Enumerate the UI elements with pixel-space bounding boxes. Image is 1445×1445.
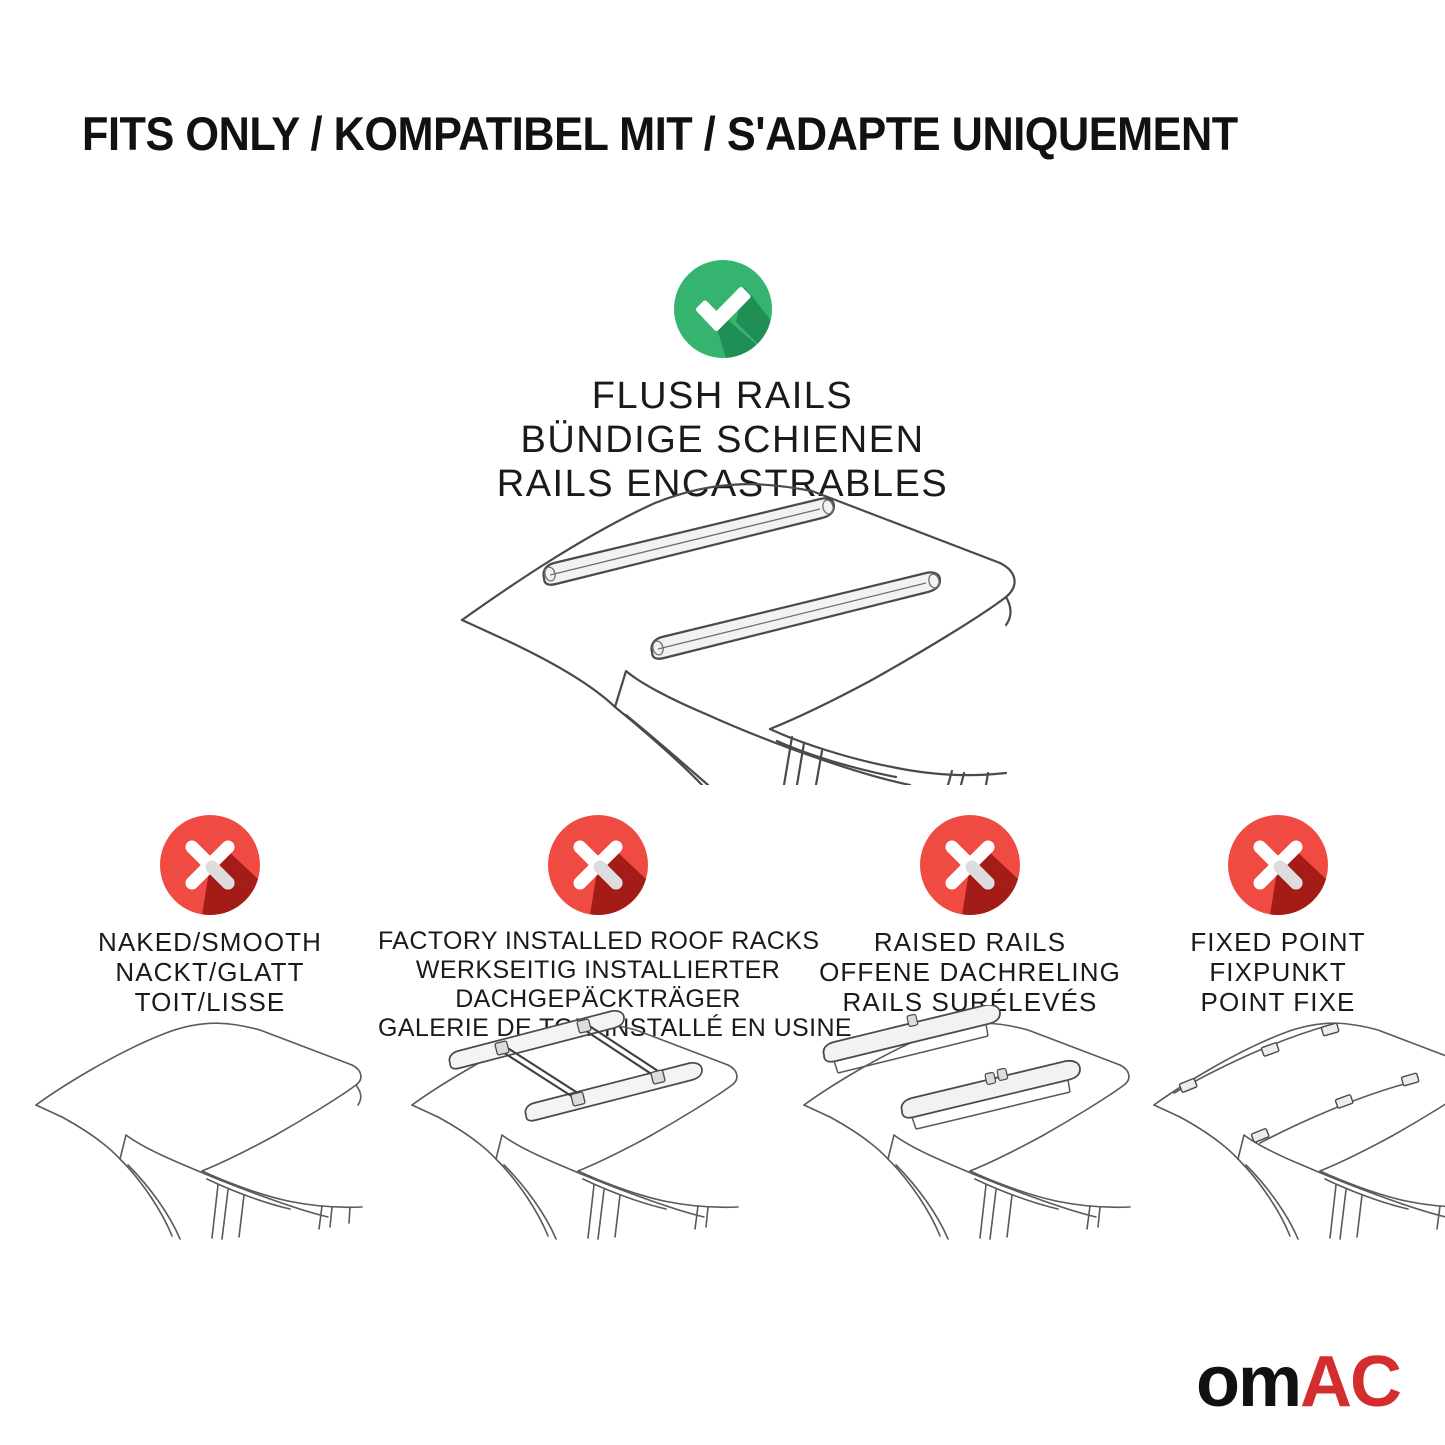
- page-title: FITS ONLY / KOMPATIBEL MIT / S'ADAPTE UN…: [82, 106, 1269, 162]
- car-roof-naked-smooth-illustration: [22, 1005, 382, 1250]
- green-check-circle-icon: [674, 260, 772, 358]
- label-line-en: RAISED RAILS: [805, 927, 1135, 957]
- red-x-circle-icon: [920, 815, 1020, 915]
- logo-text-ac: AC: [1300, 1344, 1400, 1420]
- car-roof-fixed-point-illustration: [1140, 1005, 1445, 1250]
- label-line-en: FIXED POINT: [1128, 927, 1428, 957]
- car-roof-flush-rails-illustration: [440, 475, 1020, 785]
- label-line-de: FIXPUNKT: [1128, 957, 1428, 987]
- label-line-de-1: WERKSEITIG INSTALLIERTER: [378, 956, 818, 985]
- incompatible-item-raised-rails: RAISED RAILS OFFENE DACHRELING RAILS SUR…: [805, 815, 1135, 1017]
- compatible-label-de: BÜNDIGE SCHIENEN: [0, 418, 1445, 462]
- label-line-de: OFFENE DACHRELING: [805, 957, 1135, 987]
- incompatible-labels-fixed-point: FIXED POINT FIXPUNKT POINT FIXE: [1128, 927, 1428, 1017]
- label-line-en: FACTORY INSTALLED ROOF RACKS: [378, 927, 818, 956]
- red-x-circle-icon: [160, 815, 260, 915]
- car-roof-factory-racks-illustration: [398, 1005, 758, 1250]
- incompatible-item-naked-smooth: NAKED/SMOOTH NACKT/GLATT TOIT/LISSE: [30, 815, 390, 1017]
- compatible-section: FLUSH RAILS BÜNDIGE SCHIENEN RAILS ENCAS…: [0, 250, 1445, 506]
- incompatible-labels-naked-smooth: NAKED/SMOOTH NACKT/GLATT TOIT/LISSE: [30, 927, 390, 1017]
- label-line-en: NAKED/SMOOTH: [30, 927, 390, 957]
- logo-text-om: om: [1196, 1344, 1300, 1420]
- roof-type-illustrations: [0, 1005, 1445, 1255]
- compatible-label-en: FLUSH RAILS: [0, 374, 1445, 418]
- red-x-circle-icon: [1228, 815, 1328, 915]
- omac-logo: omAC: [1196, 1344, 1400, 1420]
- red-x-circle-icon: [548, 815, 648, 915]
- incompatible-labels-raised-rails: RAISED RAILS OFFENE DACHRELING RAILS SUR…: [805, 927, 1135, 1017]
- label-line-de: NACKT/GLATT: [30, 957, 390, 987]
- car-roof-raised-rails-illustration: [790, 1005, 1150, 1250]
- incompatible-item-fixed-point: FIXED POINT FIXPUNKT POINT FIXE: [1128, 815, 1428, 1017]
